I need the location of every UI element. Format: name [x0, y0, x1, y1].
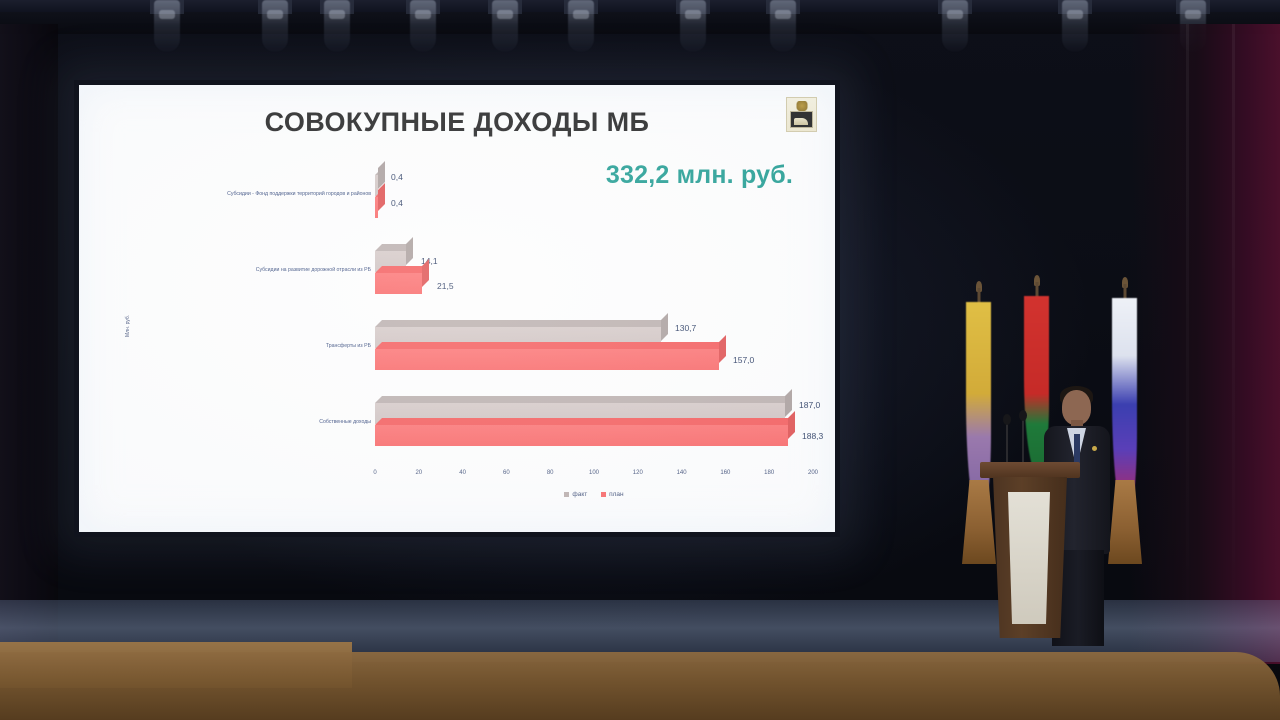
stage-light-icon — [680, 0, 706, 52]
stage-light-icon — [770, 0, 796, 52]
bar-side-face — [661, 313, 668, 341]
x-tick: 160 — [720, 470, 730, 476]
podium-top — [980, 462, 1080, 478]
stage-light-icon — [410, 0, 436, 52]
projection-screen: СОВОКУПНЫЕ ДОХОДЫ МБ 332,2 млн. руб. Млн… — [74, 80, 840, 537]
legend-item-fact: факт — [564, 491, 587, 498]
auditorium-scene: СОВОКУПНЫЕ ДОХОДЫ МБ 332,2 млн. руб. Млн… — [0, 0, 1280, 720]
bar-side-face — [719, 335, 726, 363]
page-title: СОВОКУПНЫЕ ДОХОДЫ МБ — [79, 107, 835, 138]
stage-light-icon — [262, 0, 288, 52]
x-tick: 140 — [677, 470, 687, 476]
category-label: Субсидии - Фонд поддержки территорий гор… — [103, 191, 371, 197]
legend-item-plan: план — [601, 491, 624, 498]
chart-legend: факт план — [375, 491, 813, 498]
value-label-plan: 0,4 — [391, 198, 403, 208]
x-tick: 0 — [373, 470, 376, 476]
legend-label: план — [609, 491, 624, 498]
stage-light-icon — [568, 0, 594, 52]
curtain-fold — [1232, 24, 1235, 644]
stage-light-icon — [942, 0, 968, 52]
bar-front-face — [375, 273, 422, 294]
category-label: Трансферты из РБ — [103, 343, 371, 349]
value-label-fact: 187,0 — [799, 400, 820, 410]
bar-top-face — [375, 320, 668, 327]
category-label: Собственные доходы — [103, 419, 371, 425]
presentation-slide: СОВОКУПНЫЕ ДОХОДЫ МБ 332,2 млн. руб. Млн… — [79, 85, 835, 532]
income-bar-chart: Млн. руб. Субсидии - Фонд поддержки терр… — [103, 163, 813, 513]
presenter-tie — [1074, 434, 1080, 464]
value-label-fact: 130,7 — [675, 323, 696, 333]
stage-light-icon — [492, 0, 518, 52]
bar-front-face — [375, 197, 378, 218]
microphone-icon — [1006, 422, 1008, 464]
speaker-podium — [988, 462, 1072, 638]
x-tick: 80 — [547, 470, 554, 476]
microphone-icon — [1022, 418, 1024, 464]
podium-front-panel — [1004, 492, 1054, 624]
legend-swatch-icon — [564, 492, 569, 497]
bar-top-face — [375, 418, 795, 425]
right-curtain — [1130, 24, 1280, 664]
bar-side-face — [422, 259, 429, 287]
category-label: Субсидии на развитие дорожной отрасли из… — [103, 267, 371, 273]
x-tick: 100 — [589, 470, 599, 476]
x-tick: 40 — [459, 470, 466, 476]
bar-top-face — [375, 342, 726, 349]
value-label-fact: 0,4 — [391, 172, 403, 182]
stage-light-icon — [1062, 0, 1088, 52]
x-tick: 120 — [633, 470, 643, 476]
lapel-pin-icon — [1092, 446, 1097, 451]
bar-top-face — [375, 396, 792, 403]
x-tick: 200 — [808, 470, 818, 476]
coat-of-arms-emblem — [786, 97, 817, 132]
bar-front-face — [375, 349, 719, 370]
legend-swatch-icon — [601, 492, 606, 497]
x-tick: 180 — [764, 470, 774, 476]
bar-side-face — [785, 389, 792, 417]
stage-light-icon — [154, 0, 180, 52]
bar-side-face — [378, 183, 385, 211]
stage-apron — [0, 652, 1280, 720]
bar-top-face — [375, 266, 429, 273]
curtain-fold — [1186, 24, 1189, 644]
x-tick: 60 — [503, 470, 510, 476]
bar-plan — [375, 349, 719, 370]
x-axis: 0 20 40 60 80 100 120 140 160 180 200 — [375, 470, 813, 486]
bar-front-face — [375, 425, 788, 446]
bar-plan — [375, 425, 788, 446]
x-tick: 20 — [415, 470, 422, 476]
stage-light-icon — [324, 0, 350, 52]
bar-side-face — [406, 237, 413, 265]
legend-label: факт — [572, 491, 587, 498]
value-label-plan: 188,3 — [802, 431, 823, 441]
left-curtain — [0, 24, 58, 644]
bar-plan — [375, 197, 378, 218]
value-label-plan: 21,5 — [437, 281, 454, 291]
emblem-shield — [790, 111, 813, 128]
plot-area: 0,4 0,4 — [375, 163, 813, 468]
bar-side-face — [788, 411, 795, 439]
bar-plan — [375, 273, 422, 294]
y-axis-title: Млн. руб. — [125, 315, 131, 337]
value-label-plan: 157,0 — [733, 355, 754, 365]
